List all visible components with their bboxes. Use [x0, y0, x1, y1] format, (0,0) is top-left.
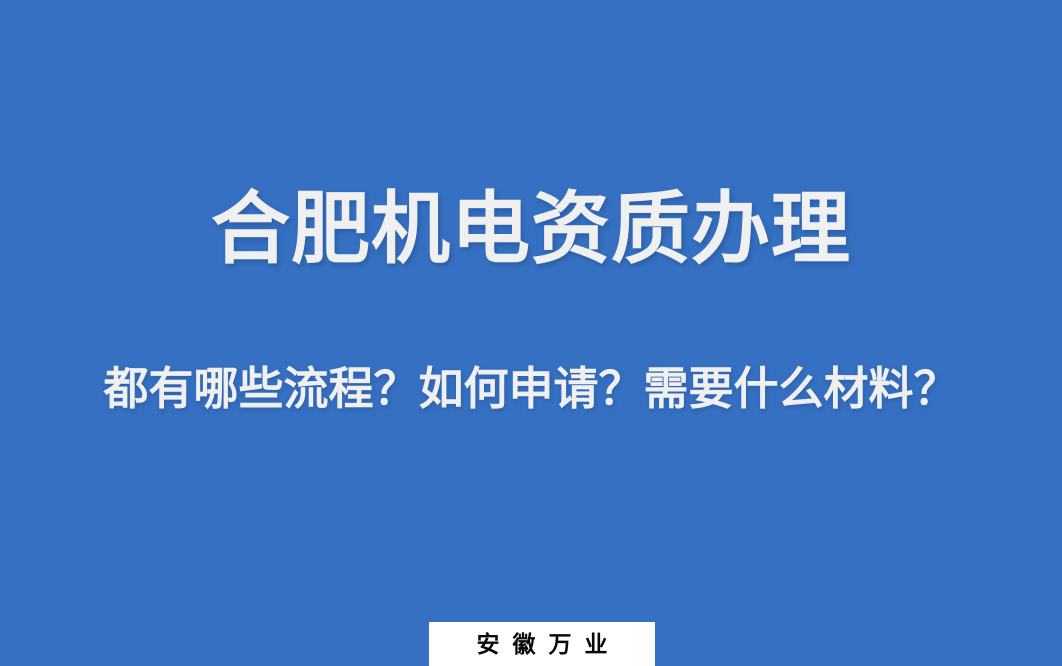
page-title: 合肥机电资质办理 [0, 178, 1062, 278]
brand-name-text: 安徽万业 [464, 633, 621, 656]
page-subtitle-text: 都有哪些流程？如何申请？需要什么材料？ [103, 366, 958, 411]
slide-canvas: 合肥机电资质办理 都有哪些流程？如何申请？需要什么材料？ 安徽万业 [0, 0, 1062, 666]
page-title-text: 合肥机电资质办理 [211, 189, 851, 268]
brand-plate: 安徽万业 [429, 622, 655, 666]
page-subtitle: 都有哪些流程？如何申请？需要什么材料？ [0, 358, 1062, 418]
